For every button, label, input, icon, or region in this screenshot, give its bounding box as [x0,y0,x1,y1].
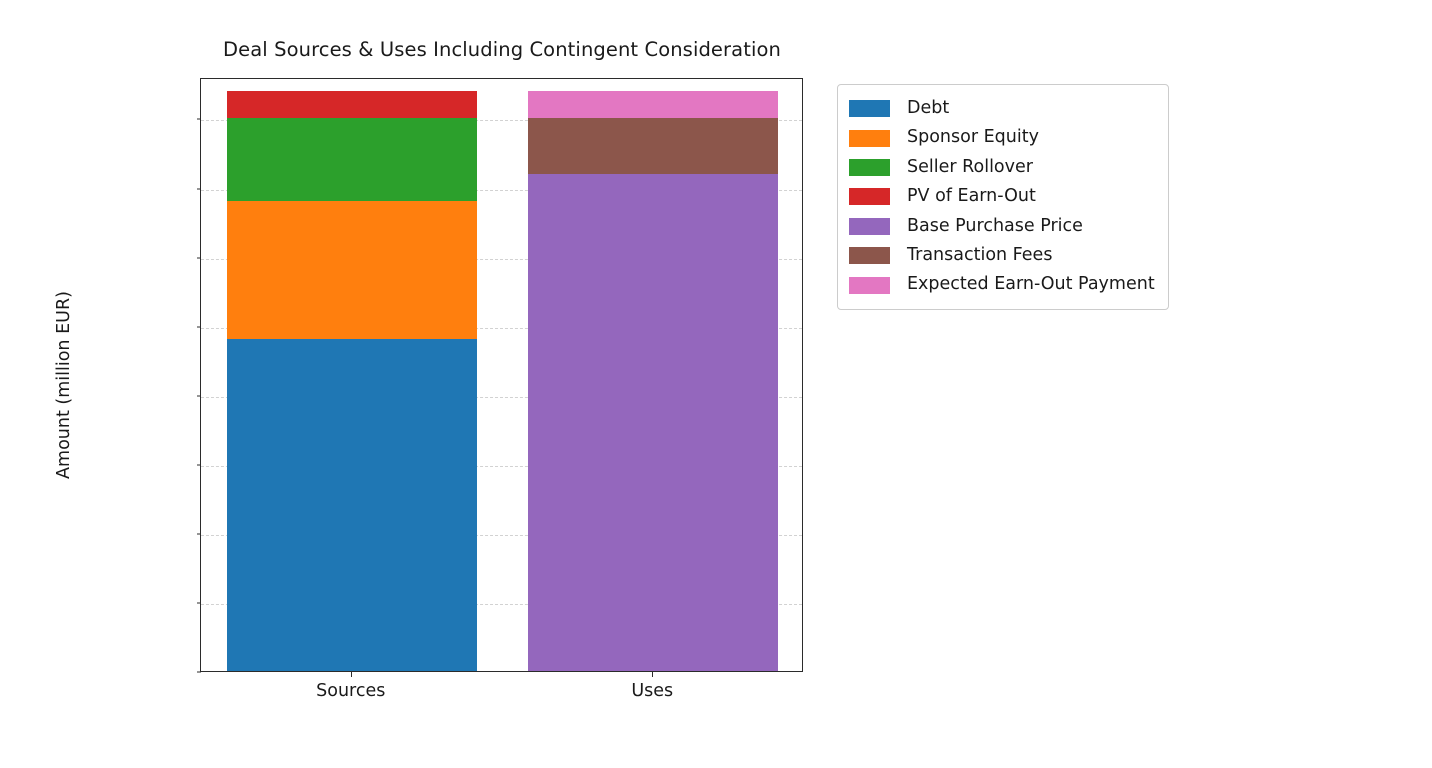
legend-label: Base Purchase Price [907,218,1083,236]
legend-color-swatch [849,247,890,264]
legend-color-swatch [849,188,890,205]
legend-label: Transaction Fees [907,247,1052,265]
bars-layer [201,79,802,671]
legend-item[interactable]: Sponsor Equity [849,123,1155,152]
legend-label: Expected Earn-Out Payment [907,276,1155,294]
legend-item[interactable]: Transaction Fees [849,241,1155,270]
plot-area [200,78,803,672]
chart-figure: Deal Sources & Uses Including Contingent… [0,0,1432,768]
chart-title: Deal Sources & Uses Including Contingent… [200,38,804,61]
legend-label: Debt [907,100,949,118]
x-tick-mark [351,672,352,677]
bar-segment [227,201,477,339]
bar-stack [227,78,477,671]
legend-color-swatch [849,218,890,235]
legend-item[interactable]: Base Purchase Price [849,212,1155,241]
legend-item[interactable]: Debt [849,94,1155,123]
legend-item[interactable]: Expected Earn-Out Payment [849,270,1155,299]
legend-item[interactable]: PV of Earn-Out [849,182,1155,211]
legend-label: Sponsor Equity [907,129,1039,147]
bar-segment [528,91,778,119]
y-axis-label: Amount (million EUR) [54,291,74,479]
chart-legend: DebtSponsor EquitySeller RolloverPV of E… [837,84,1169,310]
legend-item[interactable]: Seller Rollover [849,153,1155,182]
bar-segment [227,339,477,671]
legend-color-swatch [849,277,890,294]
bar-stack [528,78,778,671]
legend-color-swatch [849,159,890,176]
legend-label: Seller Rollover [907,159,1033,177]
x-tick-label-sources: Sources [316,681,385,701]
x-tick-label-uses: Uses [631,681,673,701]
x-tick-mark [652,672,653,677]
legend-color-swatch [849,100,890,117]
legend-label: PV of Earn-Out [907,188,1036,206]
bar-segment [227,91,477,119]
legend-color-swatch [849,130,890,147]
bar-segment [528,174,778,671]
bar-segment [528,118,778,173]
bar-segment [227,118,477,201]
